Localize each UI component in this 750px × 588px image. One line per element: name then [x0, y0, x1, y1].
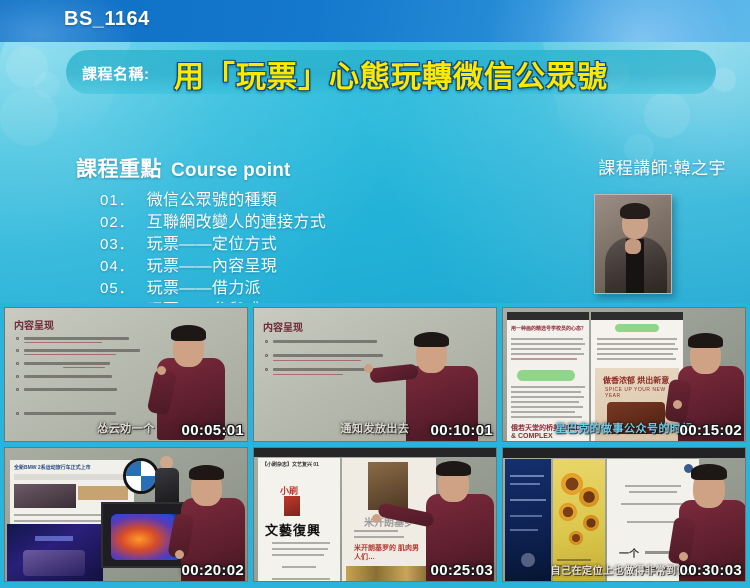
point-text: 玩票——借力派: [147, 274, 261, 298]
browser-titlebar: [591, 312, 683, 320]
article-toolbar: [14, 474, 130, 480]
video-thumbnail[interactable]: 一个 自己在定位上也做得非常到位的 00:30:03: [502, 447, 746, 582]
course-points-heading-en: Course point: [171, 160, 291, 182]
article-line: [354, 530, 398, 532]
article-line: [272, 548, 328, 550]
stage-person-body: [155, 468, 179, 506]
list-item: 02． 互聯網改變人的連接方式: [100, 208, 530, 230]
photo-hair: [620, 203, 650, 219]
presenter-hair: [414, 332, 449, 347]
point-number: 05．: [100, 277, 135, 298]
instructor-photo: [594, 194, 672, 294]
point-number: 03．: [100, 233, 135, 254]
highlight-pill: [517, 370, 575, 381]
article-line: [597, 358, 676, 360]
article-line: [597, 348, 678, 350]
painting-image: [368, 462, 408, 510]
article-line: [272, 554, 324, 556]
article-line: [511, 396, 584, 398]
browser-titlebar: [503, 448, 745, 458]
slide-text-line: [24, 375, 112, 378]
point-text: 微信公眾號的種類: [147, 186, 277, 210]
video-thumbnail[interactable]: 用一种画的精选号学校员的心态？ 俄若天堂的桥美 / BLCO & COMPLEX: [502, 307, 746, 442]
article-line: [597, 353, 673, 355]
bokeh-circle: [644, 92, 690, 138]
slide-text-line: [24, 349, 140, 352]
sunflower: [579, 487, 599, 507]
list-item: 06． 玩票——參與感: [100, 296, 530, 303]
sunflower: [569, 531, 583, 545]
point-text: 玩票——參與感: [147, 296, 261, 303]
slide-text-line: [625, 485, 681, 487]
slide-text-line: [24, 412, 116, 415]
presenter-hair: [436, 461, 471, 476]
slide-big-text: 一个: [619, 545, 639, 560]
bullet-dot: [16, 349, 19, 352]
article-line: [510, 475, 544, 477]
list-item: 05． 玩票——借力派: [100, 274, 530, 296]
right-subtitle: 米开朗基罗的 肌肉男人们…: [354, 544, 422, 562]
browser-titlebar: [507, 312, 589, 320]
presenter-hand: [157, 366, 166, 375]
course-name-row: 課程名稱: 用「玩票」心態玩轉微信公眾號: [66, 50, 726, 94]
slide-text-line: [629, 491, 677, 493]
course-info-panel: 課程名稱: 用「玩票」心態玩轉微信公眾號 課程重點 Course point 課…: [0, 42, 750, 303]
list-item: 01． 微信公眾號的種類: [100, 186, 530, 208]
course-points-heading: 課程重點 Course point: [76, 153, 291, 183]
brand-thumb: [284, 496, 300, 516]
article-line: [511, 401, 579, 403]
article-line: [511, 411, 575, 413]
presenter-hand: [175, 550, 184, 559]
article-line: [510, 499, 546, 501]
presenter-hand: [673, 400, 682, 409]
slide-text-line: [273, 354, 383, 357]
course-name-label: 課程名稱:: [82, 63, 150, 84]
article-headline: 用一种画的精选号学校员的心态？: [511, 325, 586, 332]
course-name-value: 用「玩票」心態玩轉微信公眾號: [174, 52, 608, 96]
article-line: [511, 338, 583, 340]
video-timestamp: 00:10:01: [431, 422, 493, 439]
slide-text-line: [24, 337, 129, 340]
video-thumbnail[interactable]: 全新BMW 2系运动旅行车正式上市: [4, 447, 248, 582]
article-line: [511, 348, 581, 350]
stage-person: [153, 456, 181, 506]
point-number: 04．: [100, 255, 135, 276]
video-thumbnail[interactable]: 内容呈现 通知发放出去 00:10:01: [253, 307, 497, 442]
article-line: [510, 515, 542, 517]
point-text: 玩票——內容呈現: [147, 252, 277, 276]
slide-title: 内容呈现: [263, 319, 303, 334]
slide-title: 内容呈现: [14, 317, 54, 332]
video-thumbnail[interactable]: 【小刷杂志】文艺复兴 01 小刷 文藝復興 米开朗基罗 米开朗基罗的 肌肉男人们…: [253, 447, 497, 582]
course-points-heading-cn: 課程重點: [76, 153, 162, 183]
point-text: 玩票——定位方式: [147, 230, 277, 254]
poster-title-cn: 做香浓郁 烘出新意: [603, 375, 669, 386]
article-line: [597, 338, 677, 340]
underline: [24, 342, 102, 343]
presenter-hand: [364, 364, 373, 373]
article-line: [354, 536, 404, 538]
point-number: 02．: [100, 211, 135, 232]
article-line: [272, 542, 330, 544]
underline: [273, 374, 343, 375]
bullet-dot: [16, 375, 19, 378]
projected-magazine-left: 【小刷杂志】文艺复兴 01 小刷 文藝復興: [258, 458, 340, 582]
article-photo: [14, 484, 76, 508]
photo-hand: [625, 239, 641, 254]
article-line: [282, 566, 316, 568]
bullet-dot: [16, 337, 19, 340]
article-line: [510, 529, 538, 531]
bullet-dot: [16, 388, 19, 391]
presenter-hand: [372, 514, 381, 523]
browser-titlebar: [254, 448, 496, 457]
presenter-hair: [691, 464, 727, 480]
presenter-hair: [189, 465, 224, 480]
list-item: 03． 玩票——定位方式: [100, 230, 530, 252]
article-line: [511, 343, 585, 345]
article-line: [597, 343, 675, 345]
bullet-dot: [16, 412, 19, 415]
sunflower: [583, 515, 599, 531]
article-line: [510, 483, 540, 485]
underline: [24, 354, 116, 355]
poster-caption-line: [557, 559, 591, 561]
presenter-hand: [679, 552, 688, 561]
video-thumbnail[interactable]: 内容呈现 怂云劝一个 00:05:01: [4, 307, 248, 442]
article-line: [511, 416, 582, 418]
point-text: 互聯網改變人的連接方式: [147, 208, 326, 232]
video-timestamp: 00:20:02: [182, 562, 244, 579]
sunflower: [559, 503, 577, 521]
bullet-dot: [265, 354, 268, 357]
video-timestamp: 00:15:02: [680, 422, 742, 439]
stage-light: [35, 536, 73, 541]
article-headline: 全新BMW 2系运动旅行车正式上市: [14, 464, 91, 471]
slide-text-line: [24, 388, 117, 391]
video-timestamp: 00:25:03: [431, 562, 493, 579]
video-thumbnail-grid: 内容呈现 怂云劝一个 00:05:01: [0, 303, 750, 588]
video-timestamp: 00:05:01: [182, 422, 244, 439]
point-number: 01．: [100, 189, 135, 210]
table-surface: [75, 564, 189, 582]
bullet-dot: [265, 340, 268, 343]
bottom-strip-image: [346, 566, 432, 582]
presenter-hair: [688, 333, 723, 348]
list-item: 04． 玩票——內容呈現: [100, 252, 530, 274]
slide-text-line: [621, 503, 687, 505]
course-points-list: 01． 微信公眾號的種類 02． 互聯網改變人的連接方式 03． 玩票——定位方…: [100, 186, 530, 303]
article-line: [511, 386, 585, 388]
poster-title: 文藝復興: [265, 520, 321, 539]
document-id: BS_1164: [64, 8, 150, 31]
bmw-quadrant: [126, 461, 141, 476]
slide-text-line: [24, 362, 110, 365]
underline: [273, 360, 361, 361]
article-line: [511, 358, 577, 360]
article-line: [511, 353, 584, 355]
article-line: [511, 406, 583, 408]
highlight-pill: [615, 324, 659, 332]
instructor-label: 課程講師:韓之宇: [598, 154, 726, 179]
article-line: [511, 391, 581, 393]
underline: [63, 367, 105, 368]
header-glow: [490, 0, 750, 42]
bokeh-circle: [0, 88, 58, 146]
slide-text-line: [273, 340, 377, 343]
bullet-dot: [16, 362, 19, 365]
article-headline: 【小刷杂志】文艺复兴 01: [262, 461, 319, 468]
article-line: [272, 578, 330, 580]
bullet-dot: [265, 368, 268, 371]
video-timestamp: 00:30:03: [680, 562, 742, 579]
article-banner: [78, 486, 128, 500]
slide-page: BS_1164 課程名稱: 用「玩票」心態玩轉微信公眾號 課程重點 Course…: [0, 0, 750, 588]
presenter-hair: [171, 325, 206, 341]
